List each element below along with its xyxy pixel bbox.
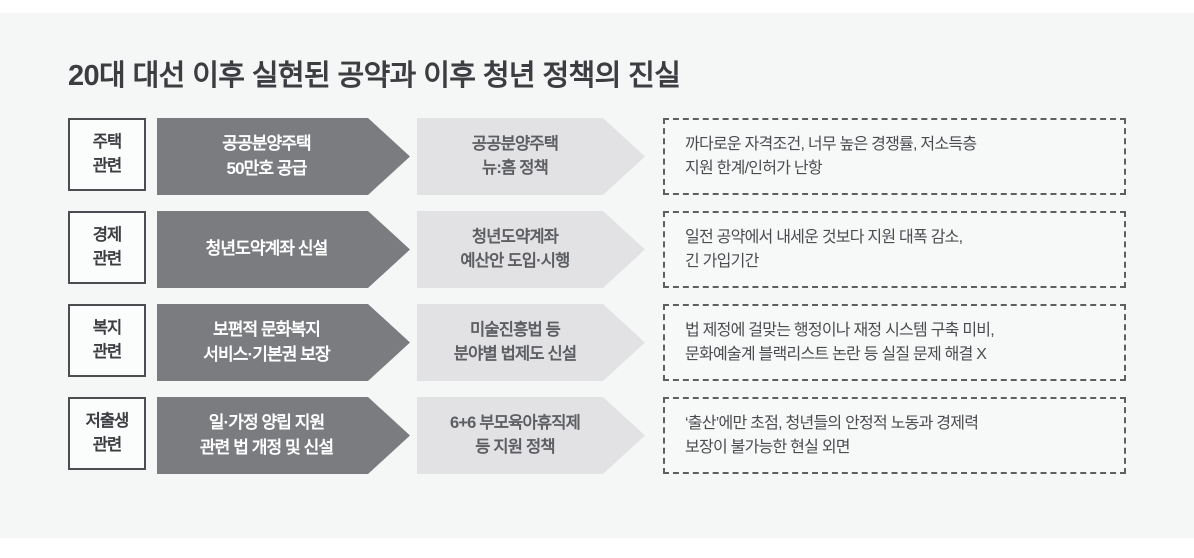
category-label-line2: 관련 [93, 434, 122, 457]
category-box: 주택 관련 [68, 118, 146, 191]
result-text-line1: 공공분양주택 [472, 133, 558, 157]
note-text-line2: 보장이 불가능한 현실 외면 [685, 436, 1124, 460]
category-label-line1: 복지 [93, 317, 122, 340]
category-box: 복지 관련 [68, 304, 146, 377]
result-text-line1: 청년도약계좌 [472, 226, 558, 250]
note-text-line1: 까다로운 자격조건, 너무 높은 경쟁률, 저소득층 [685, 133, 1124, 157]
note-text-line1: ‘출산’에만 초점, 청년들의 안정적 노동과 경제력 [685, 412, 1124, 436]
critique-note-box: ‘출산’에만 초점, 청년들의 안정적 노동과 경제력 보장이 불가능한 현실 … [663, 397, 1126, 474]
category-box: 경제 관련 [68, 211, 146, 284]
critique-note-box: 까다로운 자격조건, 너무 높은 경쟁률, 저소득층 지원 한계/인허가 난항 [663, 118, 1126, 195]
result-text-line2: 뉴:홈 정책 [482, 157, 548, 181]
policy-row: 경제 관련 청년도약계좌 신설 청년도약계좌 예산안 도입·시행 일전 공약에서… [0, 211, 1194, 288]
critique-note-box: 일전 공약에서 내세운 것보다 지원 대폭 감소, 긴 가입기간 [663, 211, 1126, 288]
result-text-line1: 6+6 부모육아휴직제 [450, 412, 580, 436]
category-label-line2: 관련 [93, 341, 122, 364]
policy-row: 저출생 관련 일·가정 양립 지원 관련 법 개정 및 신설 6+6 부모육아휴… [0, 397, 1194, 474]
promise-text-line1: 청년도약계좌 신설 [206, 237, 328, 262]
result-arrow: 공공분양주택 뉴:홈 정책 [417, 118, 645, 195]
policy-row: 주택 관련 공공분양주택 50만호 공급 공공분양주택 뉴:홈 정책 까다로운 … [0, 118, 1194, 195]
category-box: 저출생 관련 [68, 397, 146, 470]
promise-text-line2: 서비스·기본권 보장 [203, 343, 330, 368]
result-text-line2: 분야별 법제도 신설 [454, 343, 577, 367]
result-arrow: 6+6 부모육아휴직제 등 지원 정책 [417, 397, 645, 474]
result-arrow: 미술진흥법 등 분야별 법제도 신설 [417, 304, 645, 381]
policy-row: 복지 관련 보편적 문화복지 서비스·기본권 보장 미술진흥법 등 분야별 법제… [0, 304, 1194, 381]
promise-text-line1: 보편적 문화복지 [213, 318, 320, 343]
result-arrow: 청년도약계좌 예산안 도입·시행 [417, 211, 645, 288]
note-text-line2: 문화예술계 블랙리스트 논란 등 실질 문제 해결 X [685, 343, 1124, 367]
policy-rows: 주택 관련 공공분양주택 50만호 공급 공공분양주택 뉴:홈 정책 까다로운 … [0, 0, 1194, 558]
category-label-line2: 관련 [93, 155, 122, 178]
category-label-line1: 저출생 [86, 410, 129, 433]
result-text-line2: 예산안 도입·시행 [460, 250, 569, 274]
critique-note-box: 법 제정에 걸맞는 행정이나 재정 시스템 구축 미비, 문화예술계 블랙리스트… [663, 304, 1126, 381]
category-label-line1: 주택 [93, 131, 122, 154]
result-text-line1: 미술진흥법 등 [470, 319, 560, 343]
result-text-line2: 등 지원 정책 [475, 436, 554, 460]
note-text-line2: 지원 한계/인허가 난항 [685, 157, 1124, 181]
promise-arrow: 청년도약계좌 신설 [157, 211, 410, 288]
note-text-line1: 일전 공약에서 내세운 것보다 지원 대폭 감소, [685, 226, 1124, 250]
category-label-line2: 관련 [93, 248, 122, 271]
promise-text-line2: 50만호 공급 [227, 157, 307, 182]
promise-arrow: 일·가정 양립 지원 관련 법 개정 및 신설 [157, 397, 410, 474]
promise-text-line1: 공공분양주택 [222, 132, 310, 157]
note-text-line1: 법 제정에 걸맞는 행정이나 재정 시스템 구축 미비, [685, 319, 1124, 343]
category-label-line1: 경제 [93, 224, 122, 247]
note-text-line2: 긴 가입기간 [685, 250, 1124, 274]
promise-arrow: 공공분양주택 50만호 공급 [157, 118, 410, 195]
promise-text-line2: 관련 법 개정 및 신설 [200, 436, 333, 461]
promise-text-line1: 일·가정 양립 지원 [209, 411, 325, 436]
promise-arrow: 보편적 문화복지 서비스·기본권 보장 [157, 304, 410, 381]
